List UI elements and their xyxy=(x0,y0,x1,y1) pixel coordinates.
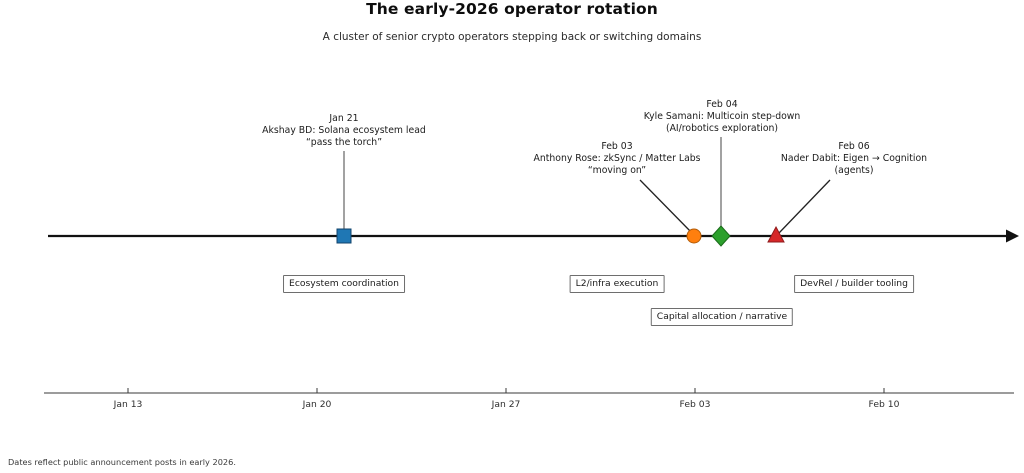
figure-footnote: Dates reflect public announcement posts … xyxy=(8,457,236,467)
date-tick-label-jan-13: Jan 13 xyxy=(114,399,143,410)
event-annotation-anthony: Feb 03 Anthony Rose: zkSync / Matter Lab… xyxy=(533,141,700,178)
event-marker-diamond-kyle[interactable] xyxy=(712,226,730,246)
event-who-kyle: Kyle Samani: Multicoin step-down xyxy=(644,111,801,123)
category-label-l2-infra-execution: L2/infra execution xyxy=(570,275,665,293)
event-quote-kyle: (AI/robotics exploration) xyxy=(644,123,801,135)
date-tick-label-jan-27: Jan 27 xyxy=(492,399,521,410)
event-annotation-kyle: Feb 04 Kyle Samani: Multicoin step-down … xyxy=(644,99,801,136)
event-who-akshay: Akshay BD: Solana ecosystem lead xyxy=(262,125,426,137)
event-date-nader: Feb 06 xyxy=(781,141,927,153)
date-tick-label-jan-20: Jan 20 xyxy=(303,399,332,410)
event-marker-square-akshay[interactable] xyxy=(337,229,351,243)
event-date-kyle: Feb 04 xyxy=(644,99,801,111)
event-quote-nader: (agents) xyxy=(781,165,927,177)
event-annotation-nader: Feb 06 Nader Dabit: Eigen → Cognition (a… xyxy=(781,141,927,178)
event-date-akshay: Jan 21 xyxy=(262,113,426,125)
category-label-ecosystem-coordination: Ecosystem coordination xyxy=(283,275,405,293)
event-who-anthony: Anthony Rose: zkSync / Matter Labs xyxy=(533,153,700,165)
event-annotation-akshay: Jan 21 Akshay BD: Solana ecosystem lead … xyxy=(262,113,426,150)
leader-line-anthony xyxy=(640,180,692,233)
event-marker-triangle-nader[interactable] xyxy=(768,227,784,242)
category-label-capital-allocation-narrative: Capital allocation / narrative xyxy=(651,308,793,326)
timeline-figure: The early-2026 operator rotation A clust… xyxy=(0,0,1024,473)
date-tick-label-feb-03: Feb 03 xyxy=(680,399,711,410)
event-quote-anthony: “moving on” xyxy=(533,165,700,177)
category-label-devrel-builder-tooling: DevRel / builder tooling xyxy=(794,275,914,293)
date-tick-label-feb-10: Feb 10 xyxy=(869,399,900,410)
event-date-anthony: Feb 03 xyxy=(533,141,700,153)
event-marker-circle-anthony[interactable] xyxy=(687,229,701,243)
event-quote-akshay: “pass the torch” xyxy=(262,137,426,149)
event-who-nader: Nader Dabit: Eigen → Cognition xyxy=(781,153,927,165)
leader-line-nader xyxy=(779,180,830,233)
